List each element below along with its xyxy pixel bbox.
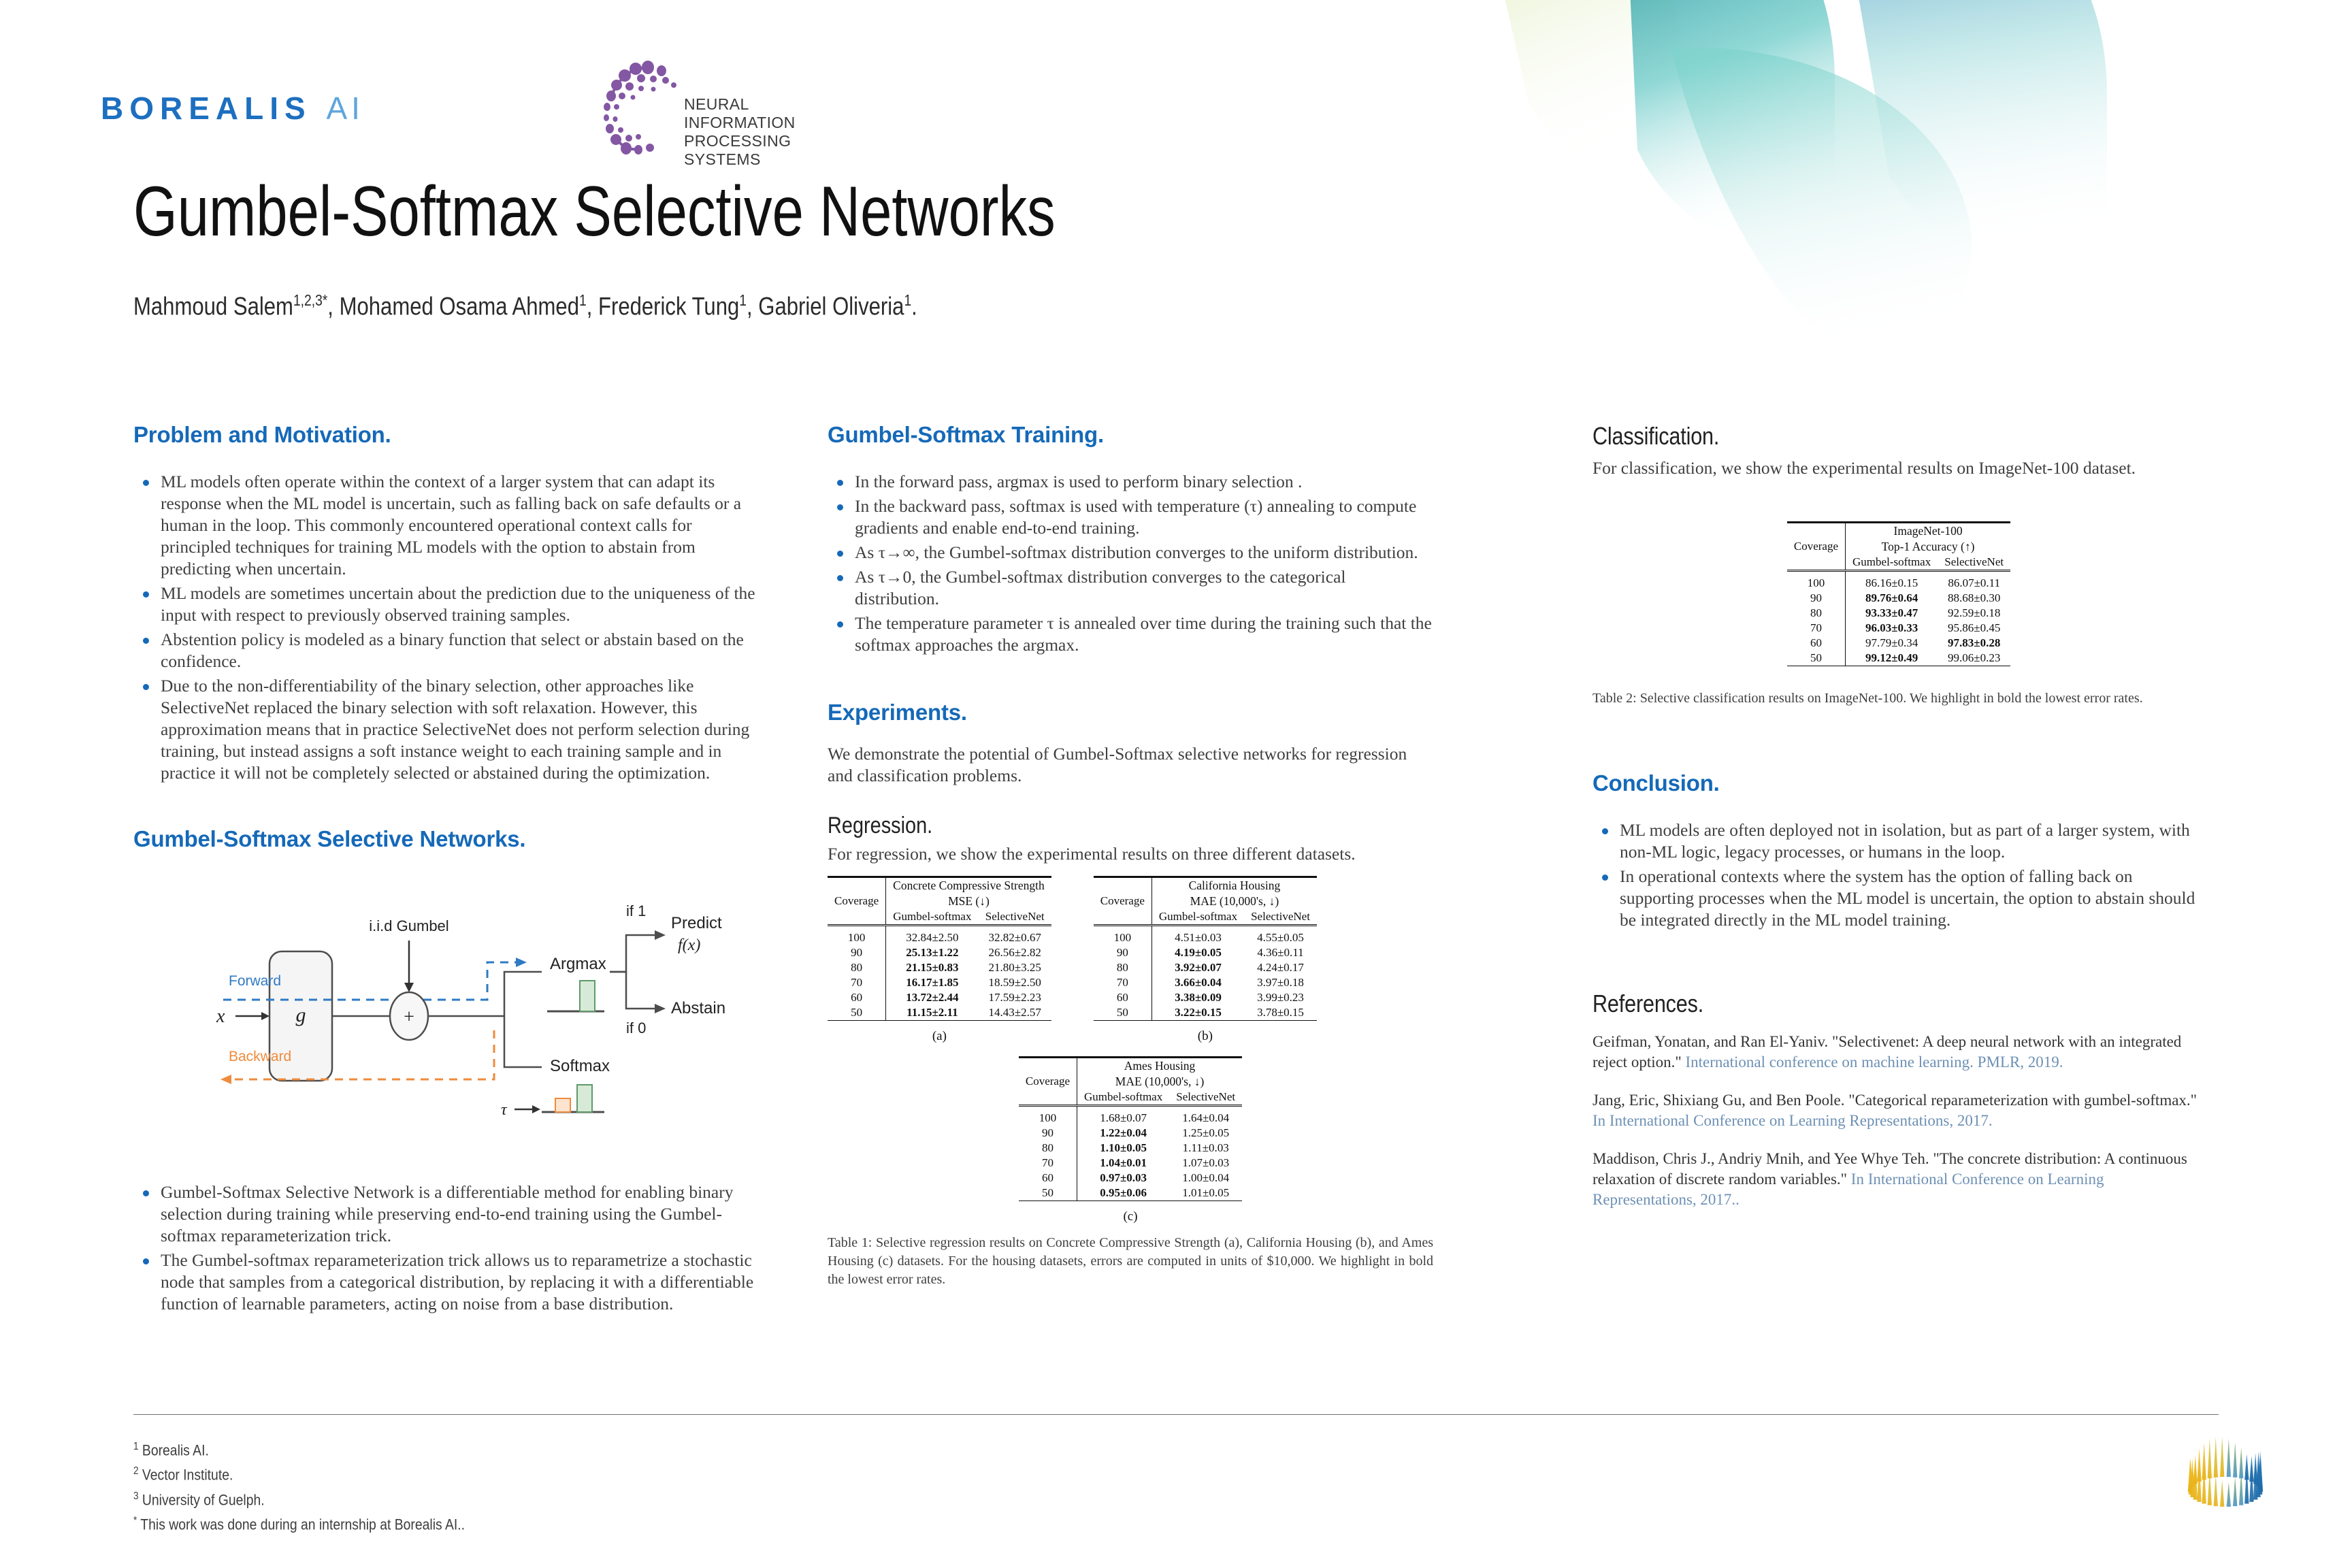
table-row: 8093.33±0.4792.59±0.18: [1787, 606, 2010, 621]
table-row: 10086.16±0.1586.07±0.11: [1787, 571, 2010, 591]
table-col-header-gumbel: Gumbel-softmax: [1151, 909, 1244, 926]
cell-gumbel: 86.16±0.15: [1846, 571, 1938, 591]
table-row: 1001.68±0.071.64±0.04: [1019, 1106, 1242, 1126]
table-col-header-selectivenet: SelectiveNet: [1244, 909, 1317, 926]
cell-coverage: 100: [1094, 926, 1152, 946]
table-row: 6013.72±2.4417.59±2.23: [828, 990, 1051, 1005]
cell-coverage: 90: [1787, 591, 1846, 606]
table-1a: CoverageConcrete Compressive StrengthMSE…: [828, 876, 1051, 1025]
table-row: 9089.76±0.6488.68±0.30: [1787, 591, 2010, 606]
footnote-item: 3 University of Guelph.: [133, 1486, 465, 1510]
cell-gumbel: 1.22±0.04: [1077, 1126, 1170, 1141]
footnote-marker: 2: [133, 1465, 139, 1477]
subsection-heading-regression: Regression.: [828, 813, 1343, 839]
cell-gumbel: 21.15±0.83: [886, 960, 979, 975]
cell-gumbel: 32.84±2.50: [886, 926, 979, 946]
cell-selectivenet: 1.01±0.05: [1169, 1186, 1242, 1201]
cell-gumbel: 4.19±0.05: [1151, 945, 1244, 960]
cell-selectivenet: 14.43±2.57: [979, 1005, 1051, 1021]
footnote-list: 1 Borealis AI.2 Vector Institute.3 Unive…: [133, 1436, 465, 1535]
table-metric-label: MAE (10,000's, ↓): [1151, 894, 1317, 909]
table-row: 701.04±0.011.07±0.03: [1019, 1156, 1242, 1171]
gumbel-softmax-architecture-diagram: g x Forward Backward + i.i.d Gumbel: [133, 875, 746, 1161]
cell-gumbel: 96.03±0.33: [1846, 621, 1938, 636]
section-heading-problem: Problem and Motivation.: [133, 422, 759, 448]
table-2: CoverageImageNet-100Top-1 Accuracy (↑)Gu…: [1787, 521, 2010, 670]
cell-coverage: 50: [1094, 1005, 1152, 1021]
table-row: 801.10±0.051.11±0.03: [1019, 1141, 1242, 1156]
footnote-item: 1 Borealis AI.: [133, 1436, 465, 1460]
svg-text:Softmax: Softmax: [550, 1057, 610, 1075]
cell-selectivenet: 1.64±0.04: [1169, 1106, 1242, 1126]
table-1-caption: Table 1: Selective regression results on…: [828, 1234, 1433, 1289]
cell-coverage: 50: [1787, 651, 1846, 666]
cell-gumbel: 25.13±1.22: [886, 945, 979, 960]
cell-gumbel: 1.04±0.01: [1077, 1156, 1170, 1171]
table-metric-label: Top-1 Accuracy (↑): [1846, 539, 2011, 555]
table-row: 803.92±0.074.24±0.17: [1094, 960, 1317, 975]
cell-coverage: 70: [1094, 975, 1152, 990]
borealis-wordmark: BOREALIS: [101, 91, 312, 126]
reference-item: Geifman, Yonatan, and Ran El-Yaniv. "Sel…: [1592, 1032, 2205, 1073]
svg-text:Abstain: Abstain: [671, 999, 725, 1017]
method-bullet-list: Gumbel-Softmax Selective Network is a di…: [133, 1181, 759, 1315]
table-metric-label: MSE (↓): [886, 894, 1051, 909]
reference-list: Geifman, Yonatan, and Ran El-Yaniv. "Sel…: [1592, 1032, 2205, 1210]
cell-selectivenet: 17.59±2.23: [979, 990, 1051, 1005]
reference-venue: International conference on machine lear…: [1685, 1053, 2063, 1071]
cell-coverage: 60: [828, 990, 886, 1005]
footnote-item: 2 Vector Institute.: [133, 1460, 465, 1485]
cell-coverage: 80: [1094, 960, 1152, 975]
cell-selectivenet: 1.11±0.03: [1169, 1141, 1242, 1156]
svg-text:Backward: Backward: [229, 1049, 291, 1064]
table-1c: CoverageAmes HousingMAE (10,000's, ↓)Gum…: [1019, 1056, 1242, 1205]
architecture-svg: g x Forward Backward + i.i.d Gumbel: [133, 875, 746, 1161]
cell-coverage: 90: [828, 945, 886, 960]
footnote-marker: *: [133, 1515, 137, 1526]
list-item: ML models are often deployed not in isol…: [1592, 819, 2205, 863]
cell-selectivenet: 3.97±0.18: [1244, 975, 1317, 990]
footnote-item: * This work was done during an internshi…: [133, 1510, 465, 1535]
list-item: As τ→∞, the Gumbel-softmax distribution …: [828, 542, 1433, 563]
table-col-header-coverage: Coverage: [1019, 1058, 1077, 1106]
table-row: 5011.15±2.1114.43±2.57: [828, 1005, 1051, 1021]
table-metric-label: MAE (10,000's, ↓): [1077, 1074, 1243, 1090]
table-1c-label: (c): [1019, 1209, 1242, 1224]
footnote-marker: 3: [133, 1490, 139, 1502]
borealis-ai-suffix: AI: [326, 91, 363, 126]
cell-coverage: 90: [1019, 1126, 1077, 1141]
cell-selectivenet: 86.07±0.11: [1938, 571, 2010, 591]
cell-gumbel: 97.79±0.34: [1846, 636, 1938, 651]
table-1b: CoverageCalifornia HousingMAE (10,000's,…: [1094, 876, 1317, 1025]
svg-text:Forward: Forward: [229, 973, 281, 989]
cell-gumbel: 13.72±2.44: [886, 990, 979, 1005]
conclusion-bullet-list: ML models are often deployed not in isol…: [1592, 819, 2205, 931]
cell-gumbel: 0.97±0.03: [1077, 1171, 1170, 1186]
table-group-title: California Housing: [1151, 877, 1317, 894]
table-1a-wrapper: CoverageConcrete Compressive StrengthMSE…: [828, 876, 1051, 1044]
column-left: Problem and Motivation. ML models often …: [133, 422, 759, 1318]
table-row: 500.95±0.061.01±0.05: [1019, 1186, 1242, 1201]
table-row: 1004.51±0.034.55±0.05: [1094, 926, 1317, 946]
cell-selectivenet: 88.68±0.30: [1938, 591, 2010, 606]
cell-selectivenet: 4.55±0.05: [1244, 926, 1317, 946]
cell-coverage: 70: [1787, 621, 1846, 636]
table-group-title: Ames Housing: [1077, 1058, 1243, 1075]
list-item: As τ→0, the Gumbel-softmax distribution …: [828, 566, 1433, 610]
table-1c-wrapper: CoverageAmes HousingMAE (10,000's, ↓)Gum…: [1019, 1056, 1242, 1224]
neurips-spiral-icon: [599, 58, 684, 167]
reference-venue: In International Conference on Learning …: [1592, 1112, 1993, 1129]
cell-selectivenet: 92.59±0.18: [1938, 606, 2010, 621]
list-item: In the forward pass, argmax is used to p…: [828, 471, 1433, 493]
reference-venue: In International Conference on Learning …: [1592, 1171, 2104, 1208]
table-2-caption: Table 2: Selective classification result…: [1592, 689, 2205, 708]
table-row: 8021.15±0.8321.80±3.25: [828, 960, 1051, 975]
cell-coverage: 80: [828, 960, 886, 975]
list-item: Due to the non-differentiability of the …: [133, 675, 759, 784]
cell-selectivenet: 3.99±0.23: [1244, 990, 1317, 1005]
cell-selectivenet: 95.86±0.45: [1938, 621, 2010, 636]
section-heading-training: Gumbel-Softmax Training.: [828, 422, 1433, 448]
list-item: The Gumbel-softmax reparameterization tr…: [133, 1249, 759, 1315]
table-1b-label: (b): [1094, 1029, 1317, 1044]
table-row: 7096.03±0.3395.86±0.45: [1787, 621, 2010, 636]
cell-coverage: 50: [828, 1005, 886, 1021]
cell-selectivenet: 32.82±0.67: [979, 926, 1051, 946]
table-col-header-gumbel: Gumbel-softmax: [1077, 1090, 1170, 1106]
list-item: ML models are sometimes uncertain about …: [133, 583, 759, 626]
table-row: 703.66±0.043.97±0.18: [1094, 975, 1317, 990]
experiments-intro: We demonstrate the potential of Gumbel-S…: [828, 743, 1433, 787]
table-row: 603.38±0.093.99±0.23: [1094, 990, 1317, 1005]
cell-gumbel: 1.68±0.07: [1077, 1106, 1170, 1126]
neurips-wordmark: NEURAL INFORMATION PROCESSING SYSTEMS: [684, 95, 851, 169]
table-row: 600.97±0.031.00±0.04: [1019, 1171, 1242, 1186]
svg-text:Argmax: Argmax: [550, 955, 606, 973]
cell-coverage: 80: [1019, 1141, 1077, 1156]
cell-coverage: 90: [1094, 945, 1152, 960]
classification-intro: For classification, we show the experime…: [1592, 457, 2205, 479]
svg-text:i.i.d Gumbel: i.i.d Gumbel: [369, 917, 448, 934]
section-heading-classification: Classification.: [1592, 422, 2113, 451]
cell-gumbel: 1.10±0.05: [1077, 1141, 1170, 1156]
column-middle: Gumbel-Softmax Training. In the forward …: [828, 422, 1433, 1289]
svg-text:Predict: Predict: [671, 914, 722, 932]
table-group-title: Concrete Compressive Strength: [886, 877, 1051, 894]
cell-coverage: 100: [1787, 571, 1846, 591]
reference-item: Maddison, Chris J., Andriy Mnih, and Yee…: [1592, 1149, 2205, 1210]
cell-gumbel: 3.66±0.04: [1151, 975, 1244, 990]
svg-text:g: g: [296, 1004, 306, 1026]
list-item: In operational contexts where the system…: [1592, 866, 2205, 931]
cell-coverage: 100: [1019, 1106, 1077, 1126]
borealis-ai-logo: BOREALIS AI: [101, 90, 364, 127]
list-item: In the backward pass, softmax is used wi…: [828, 495, 1433, 539]
table-row: 9025.13±1.2226.56±2.82: [828, 945, 1051, 960]
page-title: Gumbel-Softmax Selective Networks: [133, 171, 1056, 252]
svg-text:f(x): f(x): [678, 936, 700, 954]
column-right: Classification. For classification, we s…: [1592, 422, 2205, 1228]
footer-divider: [133, 1414, 2219, 1415]
cell-gumbel: 93.33±0.47: [1846, 606, 1938, 621]
table-col-header-selectivenet: SelectiveNet: [1169, 1090, 1242, 1106]
svg-text:x: x: [216, 1006, 225, 1027]
svg-text:τ: τ: [501, 1101, 508, 1119]
cell-selectivenet: 1.00±0.04: [1169, 1171, 1242, 1186]
table-col-header-gumbel: Gumbel-softmax: [1846, 555, 1938, 571]
table-row: 5099.12±0.4999.06±0.23: [1787, 651, 2010, 666]
cell-gumbel: 0.95±0.06: [1077, 1186, 1170, 1201]
table-1b-wrapper: CoverageCalifornia HousingMAE (10,000's,…: [1094, 876, 1317, 1044]
table-col-header-coverage: Coverage: [828, 877, 886, 926]
list-item: Abstention policy is modeled as a binary…: [133, 629, 759, 672]
cell-selectivenet: 3.78±0.15: [1244, 1005, 1317, 1021]
cell-gumbel: 89.76±0.64: [1846, 591, 1938, 606]
section-heading-references: References.: [1592, 990, 2113, 1018]
neurips-logo: NEURAL INFORMATION PROCESSING SYSTEMS: [599, 58, 851, 167]
table-col-header-coverage: Coverage: [1094, 877, 1152, 926]
cell-selectivenet: 1.07±0.03: [1169, 1156, 1242, 1171]
cell-gumbel: 3.92±0.07: [1151, 960, 1244, 975]
table-row: 904.19±0.054.36±0.11: [1094, 945, 1317, 960]
cell-selectivenet: 26.56±2.82: [979, 945, 1051, 960]
cell-coverage: 60: [1019, 1171, 1077, 1186]
cell-gumbel: 3.38±0.09: [1151, 990, 1244, 1005]
cell-coverage: 80: [1787, 606, 1846, 621]
cell-gumbel: 4.51±0.03: [1151, 926, 1244, 946]
cell-selectivenet: 99.06±0.23: [1938, 651, 2010, 666]
section-heading-experiments: Experiments.: [828, 700, 1433, 725]
table-col-header-coverage: Coverage: [1787, 523, 1846, 571]
cell-gumbel: 11.15±2.11: [886, 1005, 979, 1021]
cell-gumbel: 3.22±0.15: [1151, 1005, 1244, 1021]
footnote-marker: 1: [133, 1441, 139, 1452]
cell-selectivenet: 4.24±0.17: [1244, 960, 1317, 975]
table-row: 901.22±0.041.25±0.05: [1019, 1126, 1242, 1141]
cell-coverage: 70: [828, 975, 886, 990]
table-row: 7016.17±1.8518.59±2.50: [828, 975, 1051, 990]
table-row: 6097.79±0.3497.83±0.28: [1787, 636, 2010, 651]
cell-gumbel: 16.17±1.85: [886, 975, 979, 990]
cell-coverage: 100: [828, 926, 886, 946]
rbc-borealis-spikes-logo: [2164, 1433, 2287, 1535]
cell-selectivenet: 18.59±2.50: [979, 975, 1051, 990]
list-item: ML models often operate within the conte…: [133, 471, 759, 580]
cell-selectivenet: 97.83±0.28: [1938, 636, 2010, 651]
regression-intro: For regression, we show the experimental…: [828, 843, 1433, 865]
section-heading-method: Gumbel-Softmax Selective Networks.: [133, 826, 759, 852]
author-list: Mahmoud Salem1,2,3*, Mohamed Osama Ahmed…: [133, 291, 917, 321]
svg-text:if 1: if 1: [626, 902, 646, 919]
section-heading-conclusion: Conclusion.: [1592, 770, 2205, 796]
decorative-gradient-artwork: [1454, 0, 2352, 381]
table-group-title: ImageNet-100: [1846, 523, 2011, 540]
table-row: 10032.84±2.5032.82±0.67: [828, 926, 1051, 946]
table-col-header-selectivenet: SelectiveNet: [1938, 555, 2010, 571]
cell-selectivenet: 1.25±0.05: [1169, 1126, 1242, 1141]
cell-coverage: 60: [1094, 990, 1152, 1005]
table-row: 503.22±0.153.78±0.15: [1094, 1005, 1317, 1021]
table-2-wrapper: CoverageImageNet-100Top-1 Accuracy (↑)Gu…: [1787, 521, 2010, 670]
cell-coverage: 70: [1019, 1156, 1077, 1171]
table-1a-label: (a): [828, 1029, 1051, 1044]
reference-item: Jang, Eric, Shixiang Gu, and Ben Poole. …: [1592, 1090, 2205, 1131]
svg-text:+: +: [404, 1007, 414, 1028]
cell-selectivenet: 21.80±3.25: [979, 960, 1051, 975]
cell-coverage: 60: [1787, 636, 1846, 651]
table-col-header-gumbel: Gumbel-softmax: [886, 909, 979, 926]
table-col-header-selectivenet: SelectiveNet: [979, 909, 1051, 926]
training-bullet-list: In the forward pass, argmax is used to p…: [828, 471, 1433, 656]
cell-selectivenet: 4.36±0.11: [1244, 945, 1317, 960]
cell-coverage: 50: [1019, 1186, 1077, 1201]
problem-bullet-list: ML models often operate within the conte…: [133, 471, 759, 784]
svg-text:if 0: if 0: [626, 1019, 646, 1036]
list-item: Gumbel-Softmax Selective Network is a di…: [133, 1181, 759, 1247]
cell-gumbel: 99.12±0.49: [1846, 651, 1938, 666]
list-item: The temperature parameter τ is annealed …: [828, 612, 1433, 656]
